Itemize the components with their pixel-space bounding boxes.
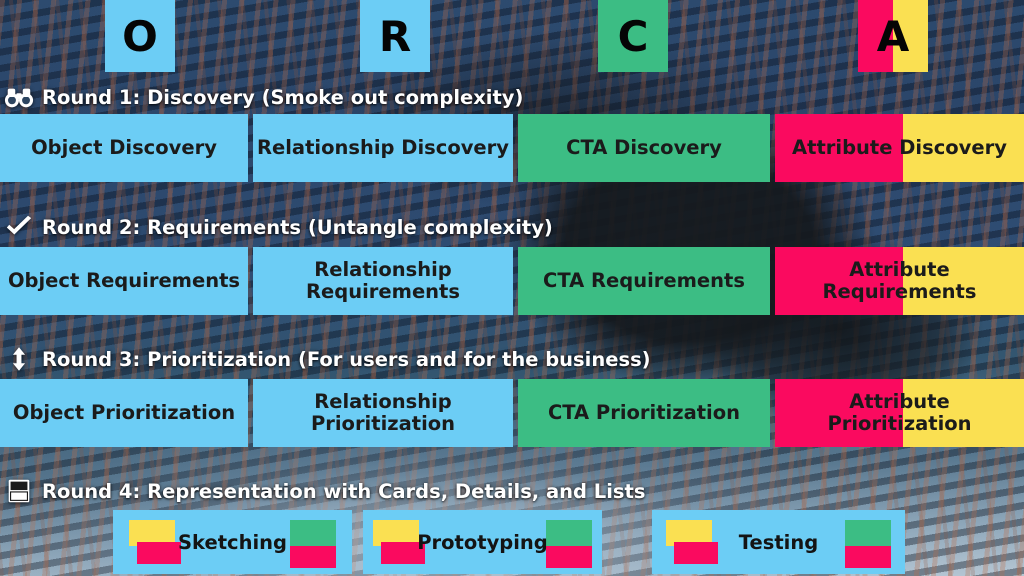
cell-object-requirements[interactable]: Object Requirements [0,247,248,315]
swatch-yellow-pink-icon [373,520,419,564]
round-2-heading-text: Round 2: Requirements (Untangle complexi… [42,216,553,239]
orca-letter-a: A [858,0,928,72]
round-3-bar: Object Prioritization Relationship Prior… [0,379,1024,447]
cell-attribute-requirements-label: Attribute Requirements [819,259,981,303]
round-4-heading-text: Round 4: Representation with Cards, Deta… [42,480,645,503]
r4-box-testing[interactable]: Testing [652,510,905,574]
round-4-bar: Sketching Prototyping Testing [0,510,1024,574]
cell-object-discovery[interactable]: Object Discovery [0,114,248,182]
swatch-yellow-pink-icon [666,520,712,564]
cell-relationship-discovery-label: Relationship Discovery [253,137,513,159]
cell-relationship-requirements-label: Relationship Requirements [302,259,464,303]
checkmark-icon [4,214,34,240]
cell-cta-prioritization-label: CTA Prioritization [544,402,744,424]
swatch-green-pink-icon [546,520,592,564]
cell-attribute-discovery-label: Attribute Discovery [788,137,1011,159]
slide-canvas: O R C A Round 1: Discovery (Smoke out co… [0,0,1024,576]
round-3-heading: Round 3: Prioritization (For users and f… [4,344,651,374]
binoculars-icon [4,84,34,110]
cell-attribute-prioritization[interactable]: Attribute Prioritization [775,379,1024,447]
cell-attribute-requirements[interactable]: Attribute Requirements [775,247,1024,315]
cell-object-prioritization-label: Object Prioritization [9,402,239,424]
swatch-green-pink-icon [845,520,891,564]
round-3-heading-text: Round 3: Prioritization (For users and f… [42,348,651,371]
orca-letter-o: O [105,0,175,72]
cell-cta-requirements-label: CTA Requirements [539,270,749,292]
cell-object-requirements-label: Object Requirements [4,270,244,292]
orca-letter-c-char: C [618,12,649,61]
round-2-heading: Round 2: Requirements (Untangle complexi… [4,212,553,242]
r4-box-prototyping[interactable]: Prototyping [363,510,602,574]
r4-box-testing-label: Testing [739,531,818,554]
orca-letter-c: C [598,0,668,72]
cell-cta-discovery[interactable]: CTA Discovery [518,114,770,182]
orca-letters-row: O R C A [0,0,1024,72]
cell-cta-discovery-label: CTA Discovery [562,137,726,159]
orca-letter-o-char: O [122,12,158,61]
swatch-green-pink-icon [290,520,336,564]
cell-object-discovery-label: Object Discovery [27,137,221,159]
cell-relationship-prioritization-label: Relationship Prioritization [307,391,459,435]
card-layout-icon [4,478,34,504]
round-1-bar: Object Discovery Relationship Discovery … [0,114,1024,182]
r4-box-prototyping-label: Prototyping [417,531,548,554]
orca-letter-r-char: R [379,12,411,61]
round-2-bar: Object Requirements Relationship Require… [0,247,1024,315]
cell-object-prioritization[interactable]: Object Prioritization [0,379,248,447]
cell-attribute-prioritization-label: Attribute Prioritization [823,391,975,435]
cell-relationship-discovery[interactable]: Relationship Discovery [253,114,513,182]
up-down-arrow-icon [4,346,34,372]
round-1-heading-text: Round 1: Discovery (Smoke out complexity… [42,86,523,109]
orca-letter-a-char: A [877,12,910,61]
cell-cta-requirements[interactable]: CTA Requirements [518,247,770,315]
r4-box-sketching[interactable]: Sketching [113,510,352,574]
cell-attribute-discovery[interactable]: Attribute Discovery [775,114,1024,182]
orca-letter-r: R [360,0,430,72]
round-4-heading: Round 4: Representation with Cards, Deta… [4,476,645,506]
cell-cta-prioritization[interactable]: CTA Prioritization [518,379,770,447]
swatch-yellow-pink-icon [129,520,175,564]
round-1-heading: Round 1: Discovery (Smoke out complexity… [4,82,523,112]
cell-relationship-requirements[interactable]: Relationship Requirements [253,247,513,315]
r4-box-sketching-label: Sketching [178,531,287,554]
cell-relationship-prioritization[interactable]: Relationship Prioritization [253,379,513,447]
